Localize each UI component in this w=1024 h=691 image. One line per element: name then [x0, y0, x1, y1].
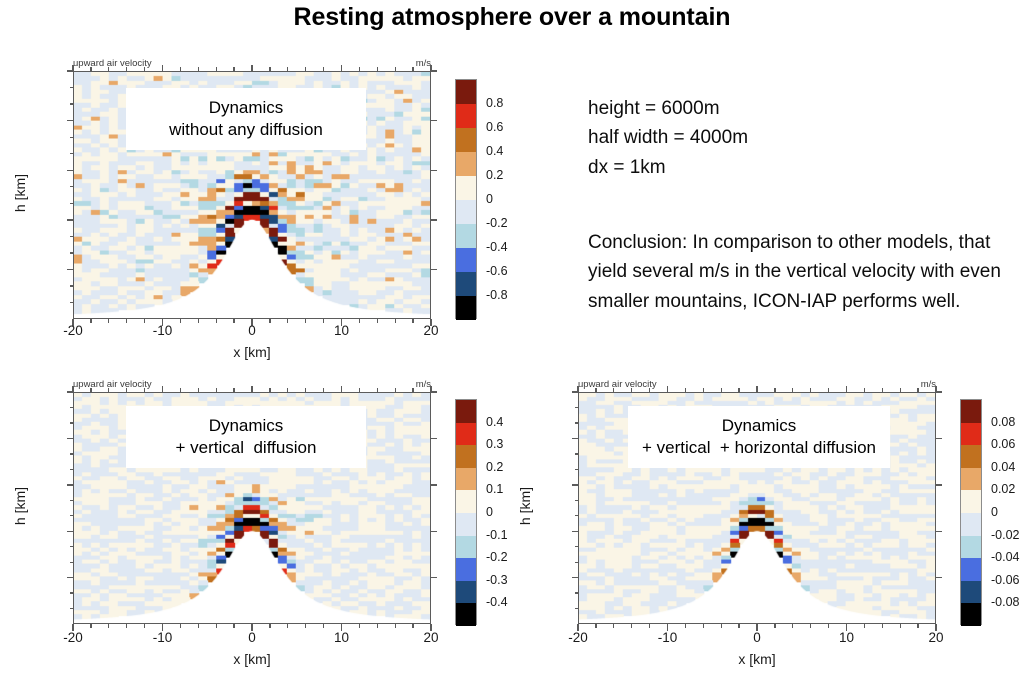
x-axis-tick-label: -20 [63, 323, 83, 338]
colorbar-band [961, 468, 981, 491]
y-axis-major-tick-right [431, 120, 437, 122]
x-axis-minor-tick [395, 319, 396, 323]
page-title: Resting atmosphere over a mountain [0, 3, 1024, 32]
x-axis-minor-tick-top [126, 67, 127, 71]
colorbar-band [456, 513, 476, 536]
colorbar-band [456, 248, 476, 272]
x-axis-minor-tick [738, 624, 739, 628]
colorbar-band [961, 581, 981, 604]
y-axis-minor-tick [575, 407, 579, 408]
colorbar-tick-label: -0.02 [991, 528, 1020, 542]
plot-caption-line1: Dynamics [209, 97, 284, 119]
y-axis-minor-tick [575, 469, 579, 470]
colorbar-band [456, 80, 476, 104]
x-axis-major-tick-top [162, 386, 164, 392]
plot-caption-box: Dynamics+ vertical diffusion [126, 406, 366, 468]
x-axis-minor-tick [233, 319, 234, 323]
x-axis-minor-tick [126, 319, 127, 323]
x-axis-minor-tick-top [305, 388, 306, 392]
x-axis-minor-tick-top [144, 388, 145, 392]
plot-caption-line2: without any diffusion [169, 119, 323, 141]
x-axis-major-tick-top [251, 386, 253, 392]
y-axis-major-tick-right [431, 577, 437, 579]
y-axis-minor-tick [575, 592, 579, 593]
y-axis-major-tick-right [431, 219, 437, 221]
colorbar-tick-label: 0.06 [991, 437, 1015, 451]
y-axis-major-tick [572, 577, 579, 579]
y-axis-minor-tick [70, 302, 74, 303]
plot-header-left: upward air velocity [73, 379, 152, 390]
x-axis-major-tick-top [72, 386, 74, 392]
x-axis-tick-label: 20 [423, 323, 438, 338]
x-axis-minor-tick [90, 624, 91, 628]
x-axis-tick-label: 10 [334, 630, 349, 645]
colorbar-tick-label: 0.02 [991, 482, 1015, 496]
x-axis-minor-tick [216, 624, 217, 628]
y-axis-major-tick [572, 484, 579, 486]
x-axis-major-tick-top [251, 65, 253, 71]
y-axis-minor-tick [70, 285, 74, 286]
x-axis-minor-tick-top [108, 67, 109, 71]
colorbar-tick-label: 0 [486, 505, 493, 519]
x-axis-minor-tick-top [613, 388, 614, 392]
y-axis-minor-tick [70, 592, 74, 593]
x-axis-minor-tick-top [412, 67, 413, 71]
slide-root: Resting atmosphere over a mountain upwar… [0, 0, 1024, 691]
x-axis-minor-tick-top [233, 67, 234, 71]
x-axis-minor-tick-top [738, 388, 739, 392]
x-axis-tick-label: 10 [334, 323, 349, 338]
y-axis-minor-tick [70, 500, 74, 501]
x-axis-title: x [km] [207, 651, 297, 667]
x-axis-minor-tick-top [792, 388, 793, 392]
y-axis-title: h [km] [12, 171, 28, 215]
y-axis-major-tick [572, 531, 579, 533]
x-axis-minor-tick-top [774, 388, 775, 392]
y-axis-major-tick [67, 219, 74, 221]
x-axis-major-tick-top [341, 65, 343, 71]
y-axis-minor-tick [70, 252, 74, 253]
x-axis-minor-tick-top [828, 388, 829, 392]
y-axis-major-tick-right [431, 70, 437, 72]
y-axis-minor-tick [575, 500, 579, 501]
colorbar-tick-label: 0.2 [486, 460, 503, 474]
plot-caption-line2: + vertical diffusion [176, 437, 317, 459]
colorbar-tick-label: -0.2 [486, 216, 508, 230]
x-axis-minor-tick [917, 624, 918, 628]
x-axis-minor-tick [828, 624, 829, 628]
x-axis-minor-tick-top [287, 388, 288, 392]
x-axis-tick-label: 20 [423, 630, 438, 645]
y-axis-major-tick-right [936, 484, 942, 486]
x-axis-major-tick-top [756, 386, 758, 392]
x-axis-minor-tick [216, 319, 217, 323]
x-axis-tick-label: 0 [248, 323, 256, 338]
colorbar-band [456, 224, 476, 248]
y-axis-minor-tick [70, 137, 74, 138]
y-axis-minor-tick [70, 87, 74, 88]
x-axis-minor-tick [412, 624, 413, 628]
x-axis-minor-tick-top [323, 388, 324, 392]
colorbar-band [961, 490, 981, 513]
x-axis-minor-tick [774, 624, 775, 628]
colorbar-tick-label: 0.2 [486, 168, 503, 182]
plot-caption-line1: Dynamics [209, 415, 284, 437]
x-axis-minor-tick [108, 319, 109, 323]
colorbar-band [456, 272, 476, 296]
x-axis-major-tick-top [577, 386, 579, 392]
colorbar-tick-label: -0.1 [486, 528, 508, 542]
y-axis-minor-tick [70, 203, 74, 204]
x-axis-minor-tick-top [900, 388, 901, 392]
x-axis-minor-tick-top [882, 388, 883, 392]
x-axis-minor-tick-top [126, 388, 127, 392]
x-axis-minor-tick [595, 624, 596, 628]
colorbar-tick-label: -0.4 [486, 595, 508, 609]
x-axis-minor-tick-top [721, 388, 722, 392]
colorbar-tick-label: -0.2 [486, 550, 508, 564]
plot-header-left: upward air velocity [578, 379, 657, 390]
colorbar-band [961, 445, 981, 468]
x-axis-major-tick-top [667, 386, 669, 392]
x-axis-minor-tick [233, 624, 234, 628]
x-axis-minor-tick [305, 319, 306, 323]
plot-units-label: m/s [405, 379, 431, 390]
y-axis-major-tick-right [431, 484, 437, 486]
colorbar-tick-label: 0.08 [991, 415, 1015, 429]
y-axis-major-tick [67, 484, 74, 486]
colorbar-band [456, 423, 476, 446]
x-axis-major-tick-top [72, 65, 74, 71]
x-axis-title: x [km] [207, 344, 297, 360]
x-axis-minor-tick [144, 319, 145, 323]
x-axis-minor-tick-top [685, 388, 686, 392]
colorbar-band [456, 581, 476, 604]
y-axis-major-tick-right [936, 577, 942, 579]
x-axis-minor-tick [721, 624, 722, 628]
x-axis-minor-tick-top [216, 388, 217, 392]
x-axis-minor-tick [126, 624, 127, 628]
conclusion-text: Conclusion: In comparison to other model… [588, 228, 1008, 316]
x-axis-minor-tick [269, 319, 270, 323]
x-axis-tick-label: 0 [248, 630, 256, 645]
x-axis-tick-label: 10 [839, 630, 854, 645]
y-axis-minor-tick [575, 453, 579, 454]
x-axis-minor-tick [269, 624, 270, 628]
y-axis-minor-tick [70, 469, 74, 470]
colorbar-tick-label: 0.6 [486, 120, 503, 134]
y-axis-major-tick-right [431, 269, 437, 271]
colorbar-band [456, 490, 476, 513]
colorbar-band [961, 536, 981, 559]
x-axis-minor-tick-top [180, 388, 181, 392]
x-axis-minor-tick-top [595, 388, 596, 392]
x-axis-minor-tick-top [395, 67, 396, 71]
x-axis-minor-tick [631, 624, 632, 628]
colorbar-band [961, 400, 981, 423]
y-axis-minor-tick [70, 453, 74, 454]
colorbar-tick-label: -0.04 [991, 550, 1020, 564]
y-axis-minor-tick [575, 546, 579, 547]
x-axis-tick-label: -10 [153, 323, 173, 338]
x-axis-minor-tick-top [395, 388, 396, 392]
y-axis-major-tick-right [431, 531, 437, 533]
x-axis-minor-tick [287, 624, 288, 628]
colorbar-tick-label: 0.04 [991, 460, 1015, 474]
x-axis-minor-tick [864, 624, 865, 628]
colorbar [960, 399, 982, 625]
x-axis-minor-tick [703, 624, 704, 628]
x-axis-minor-tick [359, 624, 360, 628]
x-axis-minor-tick-top [144, 67, 145, 71]
y-axis-major-tick-right [431, 438, 437, 440]
x-axis-minor-tick [90, 319, 91, 323]
colorbar-band [961, 423, 981, 446]
y-axis-minor-tick [575, 562, 579, 563]
colorbar-tick-label: -0.4 [486, 240, 508, 254]
colorbar-band [456, 128, 476, 152]
x-axis-minor-tick-top [90, 67, 91, 71]
x-axis-minor-tick [685, 624, 686, 628]
y-axis-major-tick-right [936, 438, 942, 440]
x-axis-minor-tick-top [269, 388, 270, 392]
plot-units-label: m/s [910, 379, 936, 390]
x-axis-minor-tick [180, 319, 181, 323]
x-axis-minor-tick-top [287, 67, 288, 71]
x-axis-minor-tick-top [90, 388, 91, 392]
colorbar-tick-label: -0.06 [991, 573, 1020, 587]
x-axis-minor-tick [377, 319, 378, 323]
x-axis-minor-tick [649, 624, 650, 628]
x-axis-minor-tick-top [198, 388, 199, 392]
colorbar-band [961, 558, 981, 581]
y-axis-title: h [km] [12, 484, 28, 528]
colorbar-band [456, 104, 476, 128]
colorbar-tick-label: -0.08 [991, 595, 1020, 609]
x-axis-minor-tick-top [810, 388, 811, 392]
y-axis-minor-tick [70, 562, 74, 563]
x-axis-major-tick-top [341, 386, 343, 392]
colorbar-band [456, 468, 476, 491]
x-axis-tick-label: -20 [568, 630, 588, 645]
x-axis-minor-tick [900, 624, 901, 628]
colorbar-tick-label: -0.8 [486, 288, 508, 302]
colorbar-tick-label: -0.6 [486, 264, 508, 278]
colorbar-band [456, 200, 476, 224]
x-axis-title: x [km] [712, 651, 802, 667]
x-axis-minor-tick-top [180, 67, 181, 71]
x-axis-minor-tick-top [412, 388, 413, 392]
y-axis-major-tick-right [936, 531, 942, 533]
y-axis-minor-tick [70, 407, 74, 408]
y-axis-minor-tick [575, 608, 579, 609]
y-axis-minor-tick [70, 103, 74, 104]
x-axis-minor-tick [305, 624, 306, 628]
y-axis-minor-tick [70, 236, 74, 237]
colorbar-band [961, 603, 981, 626]
colorbar-band [456, 603, 476, 626]
y-axis-minor-tick [70, 422, 74, 423]
x-axis-minor-tick [792, 624, 793, 628]
parameters-text: height = 6000m half width = 4000m dx = 1… [588, 94, 748, 182]
colorbar-band [456, 176, 476, 200]
x-axis-minor-tick [198, 319, 199, 323]
y-axis-major-tick [572, 438, 579, 440]
colorbar-tick-label: 0 [486, 192, 493, 206]
colorbar-tick-label: 0.4 [486, 144, 503, 158]
plot-caption-line1: Dynamics [722, 415, 797, 437]
x-axis-tick-label: -10 [153, 630, 173, 645]
x-axis-tick-label: 20 [928, 630, 943, 645]
colorbar-band [456, 400, 476, 423]
x-axis-minor-tick [323, 624, 324, 628]
colorbar-band [456, 536, 476, 559]
x-axis-minor-tick [287, 319, 288, 323]
y-axis-minor-tick [70, 153, 74, 154]
x-axis-minor-tick-top [359, 67, 360, 71]
colorbar [455, 399, 477, 625]
x-axis-minor-tick [180, 624, 181, 628]
plot-caption-box: Dynamicswithout any diffusion [126, 88, 366, 150]
x-axis-minor-tick [395, 624, 396, 628]
plot-units-label: m/s [405, 58, 431, 69]
x-axis-tick-label: -10 [658, 630, 678, 645]
colorbar-tick-label: 0.4 [486, 415, 503, 429]
x-axis-minor-tick-top [323, 67, 324, 71]
y-axis-minor-tick [70, 608, 74, 609]
x-axis-minor-tick [144, 624, 145, 628]
y-axis-minor-tick [70, 186, 74, 187]
y-axis-minor-tick [70, 546, 74, 547]
x-axis-minor-tick [613, 624, 614, 628]
y-axis-minor-tick [575, 515, 579, 516]
x-axis-minor-tick-top [108, 388, 109, 392]
y-axis-major-tick-right [936, 391, 942, 393]
x-axis-tick-label: -20 [63, 630, 83, 645]
plot-caption-box: Dynamics+ vertical + horizontal diffusio… [628, 406, 890, 468]
plot-header-left: upward air velocity [73, 58, 152, 69]
x-axis-minor-tick [882, 624, 883, 628]
colorbar-tick-label: 0.1 [486, 482, 503, 496]
x-axis-minor-tick [359, 319, 360, 323]
y-axis-title: h [km] [517, 484, 533, 528]
x-axis-minor-tick-top [216, 67, 217, 71]
y-axis-major-tick-right [431, 170, 437, 172]
x-axis-minor-tick [198, 624, 199, 628]
y-axis-major-tick-right [431, 391, 437, 393]
y-axis-major-tick [67, 170, 74, 172]
x-axis-minor-tick-top [377, 388, 378, 392]
y-axis-major-tick [67, 577, 74, 579]
colorbar-band [456, 296, 476, 320]
x-axis-minor-tick-top [198, 67, 199, 71]
colorbar [455, 79, 477, 319]
x-axis-minor-tick [810, 624, 811, 628]
y-axis-major-tick [67, 269, 74, 271]
x-axis-minor-tick-top [631, 388, 632, 392]
x-axis-minor-tick-top [269, 67, 270, 71]
x-axis-minor-tick-top [305, 67, 306, 71]
x-axis-minor-tick-top [864, 388, 865, 392]
x-axis-minor-tick [412, 319, 413, 323]
x-axis-minor-tick [377, 624, 378, 628]
colorbar-tick-label: 0.8 [486, 96, 503, 110]
colorbar-band [456, 445, 476, 468]
x-axis-major-tick-top [846, 386, 848, 392]
y-axis-minor-tick [70, 515, 74, 516]
x-axis-tick-label: 0 [753, 630, 761, 645]
x-axis-minor-tick-top [377, 67, 378, 71]
colorbar-band [961, 513, 981, 536]
y-axis-minor-tick [575, 422, 579, 423]
y-axis-major-tick [67, 120, 74, 122]
plot-caption-line2: + vertical + horizontal diffusion [642, 437, 876, 459]
colorbar-tick-label: 0.3 [486, 437, 503, 451]
x-axis-major-tick-top [162, 65, 164, 71]
x-axis-minor-tick [108, 624, 109, 628]
x-axis-minor-tick-top [917, 388, 918, 392]
x-axis-minor-tick-top [233, 388, 234, 392]
x-axis-minor-tick-top [359, 388, 360, 392]
x-axis-minor-tick [323, 319, 324, 323]
x-axis-minor-tick-top [703, 388, 704, 392]
colorbar-band [456, 558, 476, 581]
y-axis-major-tick [67, 531, 74, 533]
colorbar-band [456, 152, 476, 176]
colorbar-tick-label: -0.3 [486, 573, 508, 587]
y-axis-major-tick [67, 438, 74, 440]
x-axis-minor-tick-top [649, 388, 650, 392]
colorbar-tick-label: 0 [991, 505, 998, 519]
